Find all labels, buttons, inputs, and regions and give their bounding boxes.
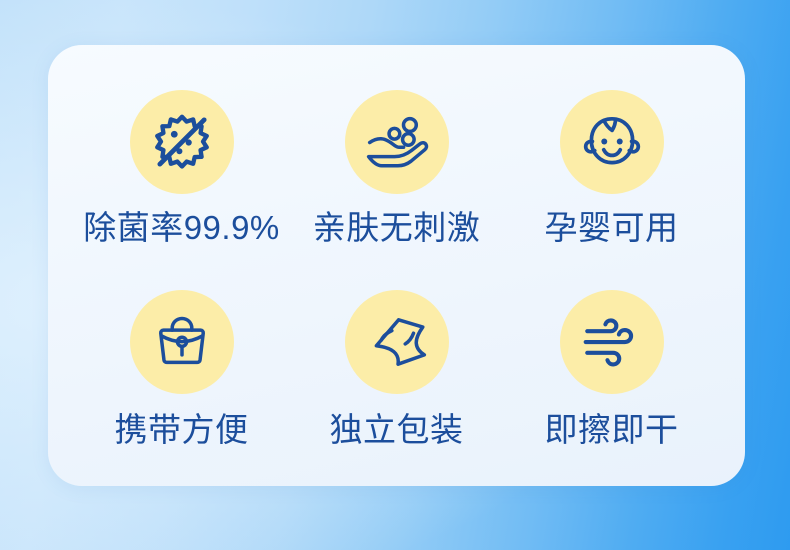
feature-label: 孕婴可用 [545, 211, 679, 244]
feature-item-quick-dry[interactable]: 即擦即干 [504, 268, 719, 469]
feature-item-portable[interactable]: 携带方便 [74, 268, 289, 469]
hand-with-bubbles-icon [345, 90, 449, 194]
feature-item-skin-friendly[interactable]: 亲肤无刺激 [289, 67, 504, 268]
wind-lines-icon [560, 290, 664, 394]
feature-item-individually-wrapped[interactable]: 独立包装 [289, 268, 504, 469]
feature-label: 亲肤无刺激 [313, 211, 481, 244]
feature-label: 携带方便 [115, 413, 249, 446]
feature-card: 除菌率99.9% 亲肤无刺激 [48, 45, 745, 486]
wipe-sheet-icon [345, 290, 449, 394]
feature-item-germ-kill-rate[interactable]: 除菌率99.9% [74, 67, 289, 268]
feature-item-pregnancy-baby-safe[interactable]: 孕婴可用 [504, 67, 719, 268]
feature-label: 即擦即干 [545, 413, 679, 446]
baby-face-icon [560, 90, 664, 194]
feature-label: 独立包装 [330, 413, 464, 446]
germ-crossed-out-icon [130, 90, 234, 194]
feature-label: 除菌率99.9% [83, 211, 280, 244]
handbag-icon [130, 290, 234, 394]
feature-grid: 除菌率99.9% 亲肤无刺激 [74, 67, 719, 468]
